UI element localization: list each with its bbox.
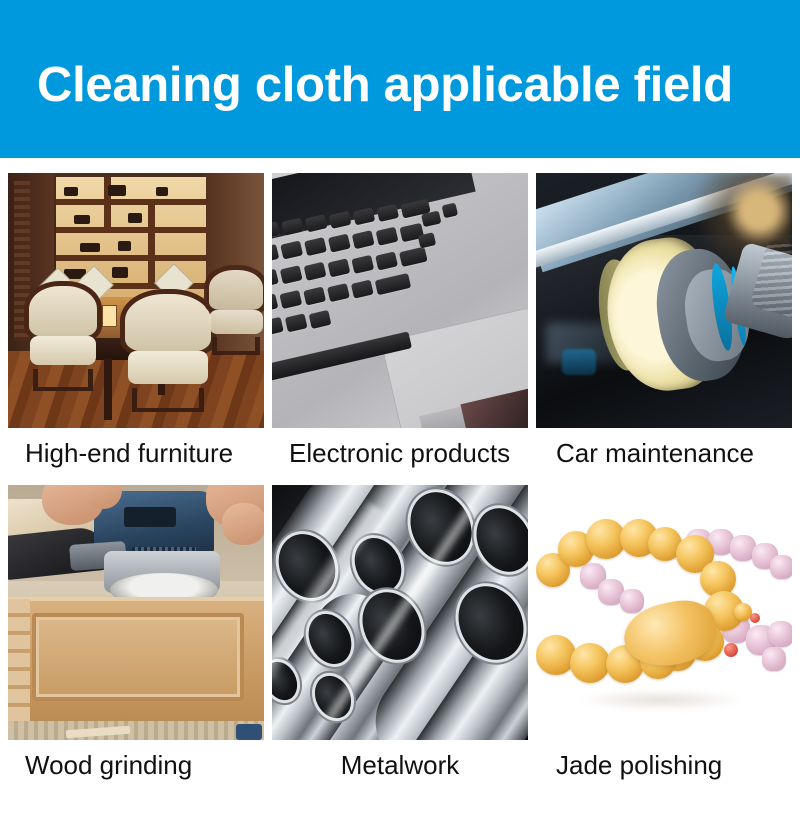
key — [279, 290, 302, 309]
key — [305, 214, 328, 232]
steel-tubes-photo — [272, 485, 528, 740]
key — [328, 234, 351, 253]
table-leg — [104, 358, 112, 420]
key — [304, 237, 327, 256]
tile-metalwork[interactable]: Metalwork — [272, 485, 528, 795]
tile-car-maintenance[interactable]: Car maintenance — [536, 173, 792, 483]
key — [351, 280, 374, 299]
jade-beads-photo — [536, 485, 792, 740]
key — [329, 211, 352, 229]
crystal-bead — [762, 647, 786, 671]
key — [304, 262, 327, 281]
tile-label: Jade polishing — [536, 743, 792, 787]
armchair — [120, 289, 216, 399]
tile-label: Wood grinding — [8, 743, 264, 787]
key — [303, 286, 326, 305]
shelf-board — [56, 255, 206, 261]
armchair — [24, 281, 102, 379]
shelf-ornament — [80, 243, 100, 252]
product-infographic: Cleaning cloth applicable field — [0, 0, 800, 819]
key — [280, 265, 303, 284]
shelf-ornament — [64, 187, 78, 196]
key — [442, 203, 459, 219]
key — [272, 293, 278, 312]
tile-label: Electronic products — [272, 431, 528, 475]
bead-shadow — [576, 690, 746, 710]
page-title: Cleaning cloth applicable field — [37, 56, 733, 114]
door-stile — [8, 599, 30, 725]
key — [272, 317, 284, 336]
key — [421, 210, 441, 227]
key — [353, 207, 376, 225]
key — [272, 269, 279, 288]
crystal-bead — [768, 621, 792, 647]
key — [375, 273, 412, 295]
tile-wood-grinding[interactable]: Wood grinding — [8, 485, 264, 795]
blue-tool-edge — [236, 724, 262, 740]
red-accent-bead — [750, 613, 760, 623]
shelf-ornament — [156, 187, 168, 196]
key — [285, 313, 308, 332]
car-polisher-photo — [536, 173, 792, 428]
chair-seat — [30, 336, 96, 365]
chair-legs — [33, 369, 92, 391]
key — [272, 244, 279, 263]
key — [327, 258, 350, 277]
chair-back — [120, 289, 216, 357]
chair-seat — [209, 310, 263, 334]
shelf-divider — [148, 203, 155, 287]
header-banner: Cleaning cloth applicable field — [0, 0, 800, 158]
key — [376, 204, 399, 222]
key — [376, 227, 399, 246]
laptop-photo — [272, 173, 528, 428]
key — [280, 240, 303, 259]
tile-electronic-products[interactable]: Electronic products — [272, 173, 528, 483]
table-lamp — [102, 305, 117, 327]
hand — [222, 503, 264, 545]
crystal-bead — [770, 555, 792, 579]
key — [272, 221, 280, 239]
key — [351, 255, 374, 274]
shelf-board — [56, 227, 206, 233]
chair-legs — [132, 388, 205, 412]
chair-back — [204, 265, 264, 315]
tile-row-1: High-end furniture — [0, 173, 800, 483]
chair-legs — [212, 337, 261, 355]
jade-bead — [570, 643, 610, 683]
application-field-grid: High-end furniture — [0, 158, 800, 819]
chair-back — [24, 281, 102, 342]
key — [281, 218, 304, 236]
tile-label: Car maintenance — [536, 431, 792, 475]
bench-surface — [8, 721, 264, 740]
key — [418, 232, 437, 248]
shelf-ornament — [118, 241, 131, 251]
wood-sanding-photo — [8, 485, 264, 740]
crystal-bead — [620, 589, 644, 613]
key — [327, 283, 350, 302]
key — [375, 251, 398, 270]
shelf-ornament — [74, 215, 90, 224]
shelf-board — [56, 199, 206, 205]
key — [399, 247, 428, 267]
key — [352, 230, 375, 249]
tile-jade-polishing[interactable]: Jade polishing — [536, 485, 792, 795]
door-panel — [32, 613, 244, 701]
tile-label: High-end furniture — [8, 431, 264, 475]
tile-label: Metalwork — [272, 743, 528, 787]
tile-row-2: Wood grinding — [0, 485, 800, 795]
red-accent-bead — [724, 643, 738, 657]
shelf-ornament — [112, 267, 128, 278]
armchair — [204, 265, 264, 345]
shelf-ornament — [128, 213, 142, 223]
chair-seat — [128, 351, 209, 384]
tile-high-end-furniture[interactable]: High-end furniture — [8, 173, 264, 483]
shelf-ornament — [108, 185, 126, 196]
blue-reflection — [562, 349, 596, 375]
furniture-photo — [8, 173, 264, 428]
key — [309, 310, 332, 329]
sander-label-plate — [124, 507, 176, 527]
